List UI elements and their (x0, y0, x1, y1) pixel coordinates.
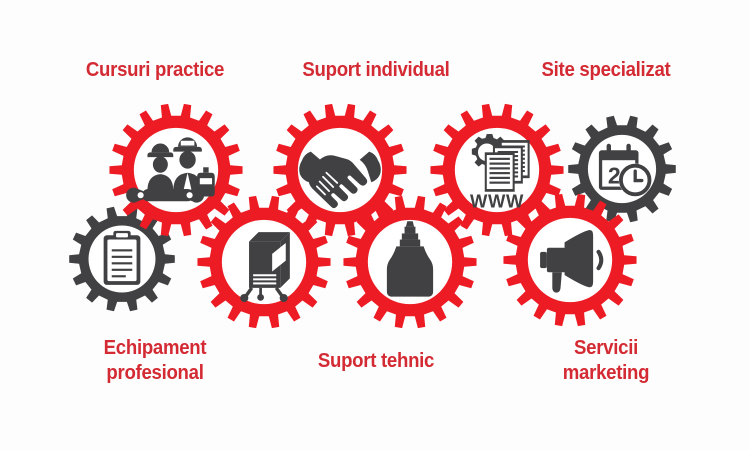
gear-servicii-marketing[interactable] (502, 192, 638, 328)
label-suport-individual: Suport individual (276, 58, 477, 83)
calendar-day-number: 2 (608, 162, 621, 188)
label-suport-tehnic: Suport tehnic (276, 349, 477, 374)
label-servicii-marketing: Servicii marketing (507, 336, 704, 386)
clipboard-icon (104, 231, 141, 285)
gear-suport-tehnic[interactable] (342, 194, 478, 330)
gear-echipament-profesional[interactable] (196, 194, 332, 330)
label-echipament-profesional: Echipament profesional (52, 336, 258, 386)
infographic-canvas: Cursuri practice Suport individual Site … (0, 0, 750, 450)
label-cursuri-practice: Cursuri practice (52, 58, 258, 83)
label-site-specializat: Site specializat (507, 58, 704, 83)
